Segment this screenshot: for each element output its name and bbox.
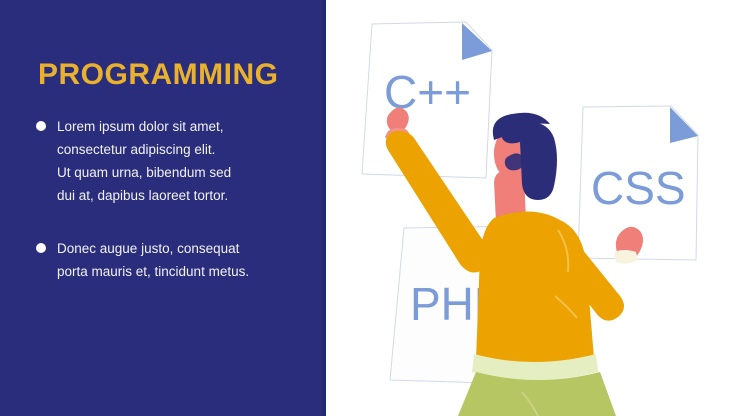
character-cuff-right [614,250,638,264]
code-card-cpp: C++ [362,22,492,178]
bullet-list-item-1: Lorem ipsum dolor sit amet, consectetur … [36,115,306,207]
illustration-area: C++ CSS PHP [326,0,740,416]
character-torso-shirt [476,211,594,367]
bullet-text: Donec augue justo, consequat porta mauri… [57,237,306,283]
page-title: PROGRAMMING [38,58,279,92]
card-label-css: CSS [591,162,686,214]
bullet-text: Lorem ipsum dolor sit amet, consectetur … [57,115,306,207]
bullet-dot-icon [36,121,46,131]
bullet-row: Lorem ipsum dolor sit amet, consectetur … [36,115,306,207]
left-content-panel: PROGRAMMING Lorem ipsum dolor sit amet, … [0,0,326,416]
bullet-dot-icon [36,243,46,253]
bullet-row: Donec augue justo, consequat porta mauri… [36,237,306,283]
bullet-list-item-2: Donec augue justo, consequat porta mauri… [36,237,306,283]
slide-canvas: PROGRAMMING Lorem ipsum dolor sit amet, … [0,0,740,416]
